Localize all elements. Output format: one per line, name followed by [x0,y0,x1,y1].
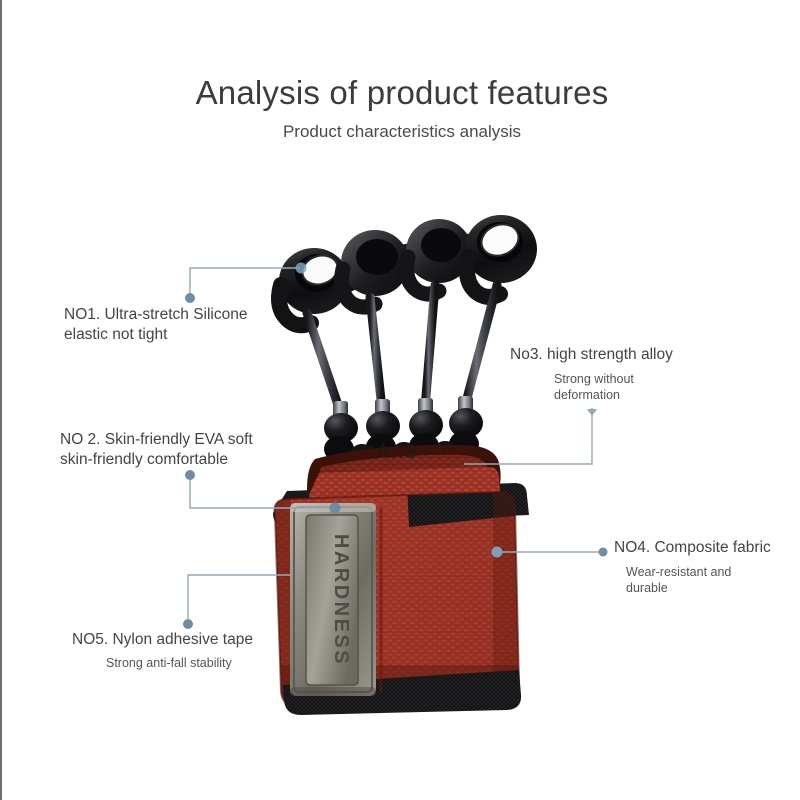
callout-no4-sub: Wear-resistant and durable [626,564,771,596]
callout-no5-head: NO5. Nylon adhesive tape [72,630,253,650]
callout-no3-head: No3. high strength alloy [510,345,673,365]
leader-no1 [185,263,307,304]
leader-no3 [464,408,597,464]
callout-no3: No3. high strength alloy Strong without … [510,345,673,403]
poster-canvas: Analysis of product features Product cha… [2,0,800,800]
leader-lines [2,0,800,800]
callout-no5-sub: Strong anti-fall stability [106,655,253,671]
callout-no3-sub: Strong without deformation [554,371,673,403]
callout-no1-head: NO1. Ultra-stretch Silicone elastic not … [64,305,247,345]
callout-no4: NO4. Composite fabric Wear-resistant and… [614,538,771,596]
callout-no4-head: NO4. Composite fabric [614,538,771,558]
callout-no2-head: NO 2. Skin-friendly EVA soft skin-friend… [60,430,253,470]
callout-no1: NO1. Ultra-stretch Silicone elastic not … [64,305,247,345]
leader-no4 [492,547,608,558]
leader-no5 [183,575,290,629]
callout-no2: NO 2. Skin-friendly EVA soft skin-friend… [60,430,253,470]
callout-no5: NO5. Nylon adhesive tape Strong anti-fal… [72,630,253,671]
leader-no2 [185,470,341,514]
